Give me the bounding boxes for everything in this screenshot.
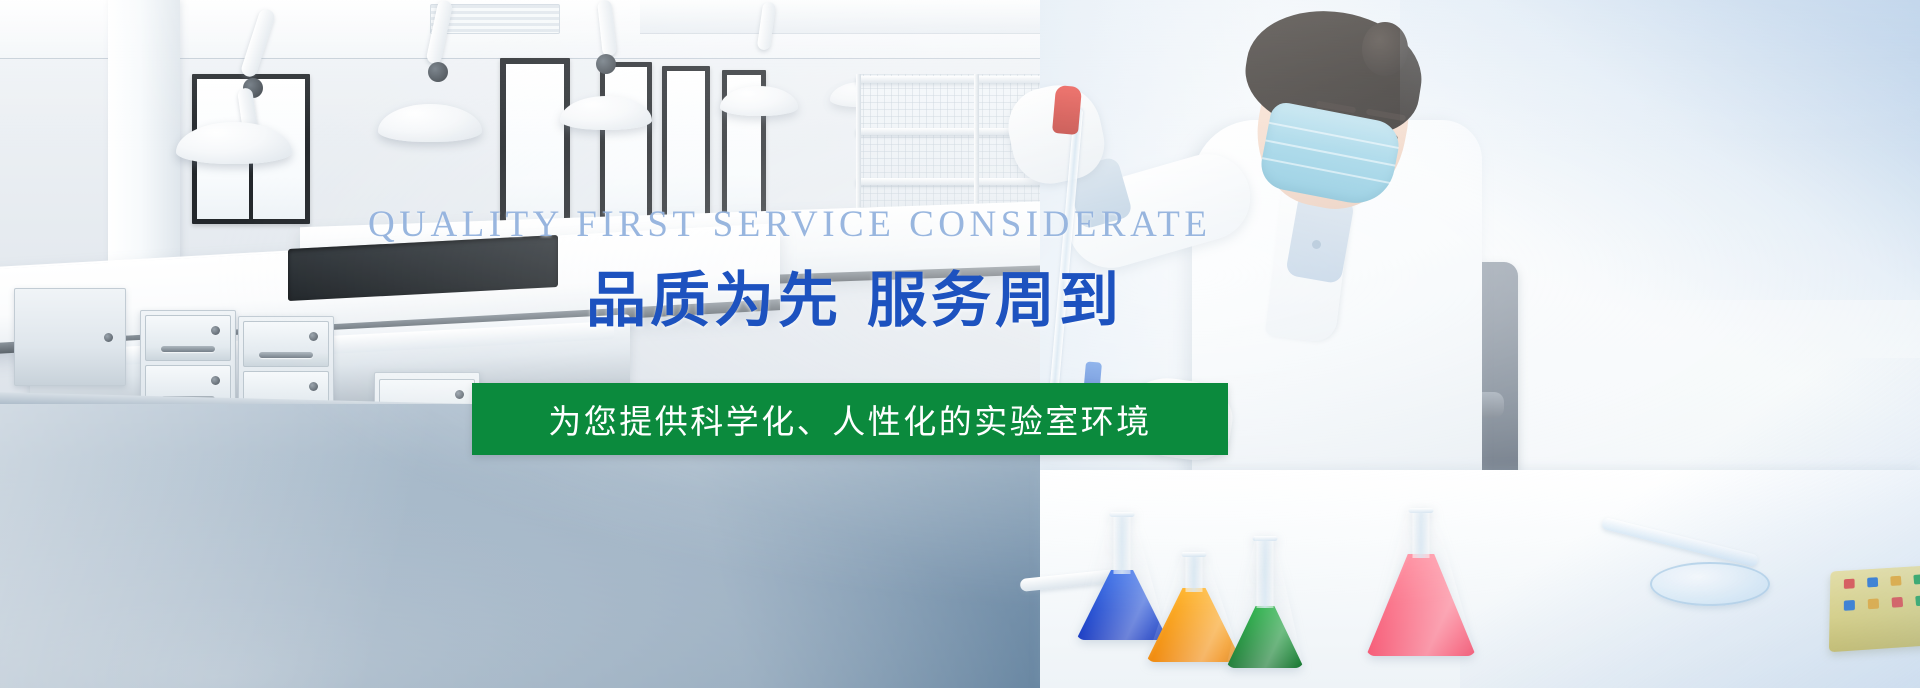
banner-copy: QUALITY FIRST SERVICE CONSIDERATE 品质为先 服…: [0, 0, 1920, 688]
hero-banner: QUALITY FIRST SERVICE CONSIDERATE 品质为先 服…: [0, 0, 1920, 688]
english-tagline: QUALITY FIRST SERVICE CONSIDERATE: [368, 203, 1211, 246]
banner-headline: 品质为先 服务周到: [586, 252, 1123, 339]
subtitle-green-bar: 为您提供科学化、人性化的实验室环境: [472, 383, 1228, 455]
subtitle-text: 为您提供科学化、人性化的实验室环境: [548, 395, 1152, 443]
